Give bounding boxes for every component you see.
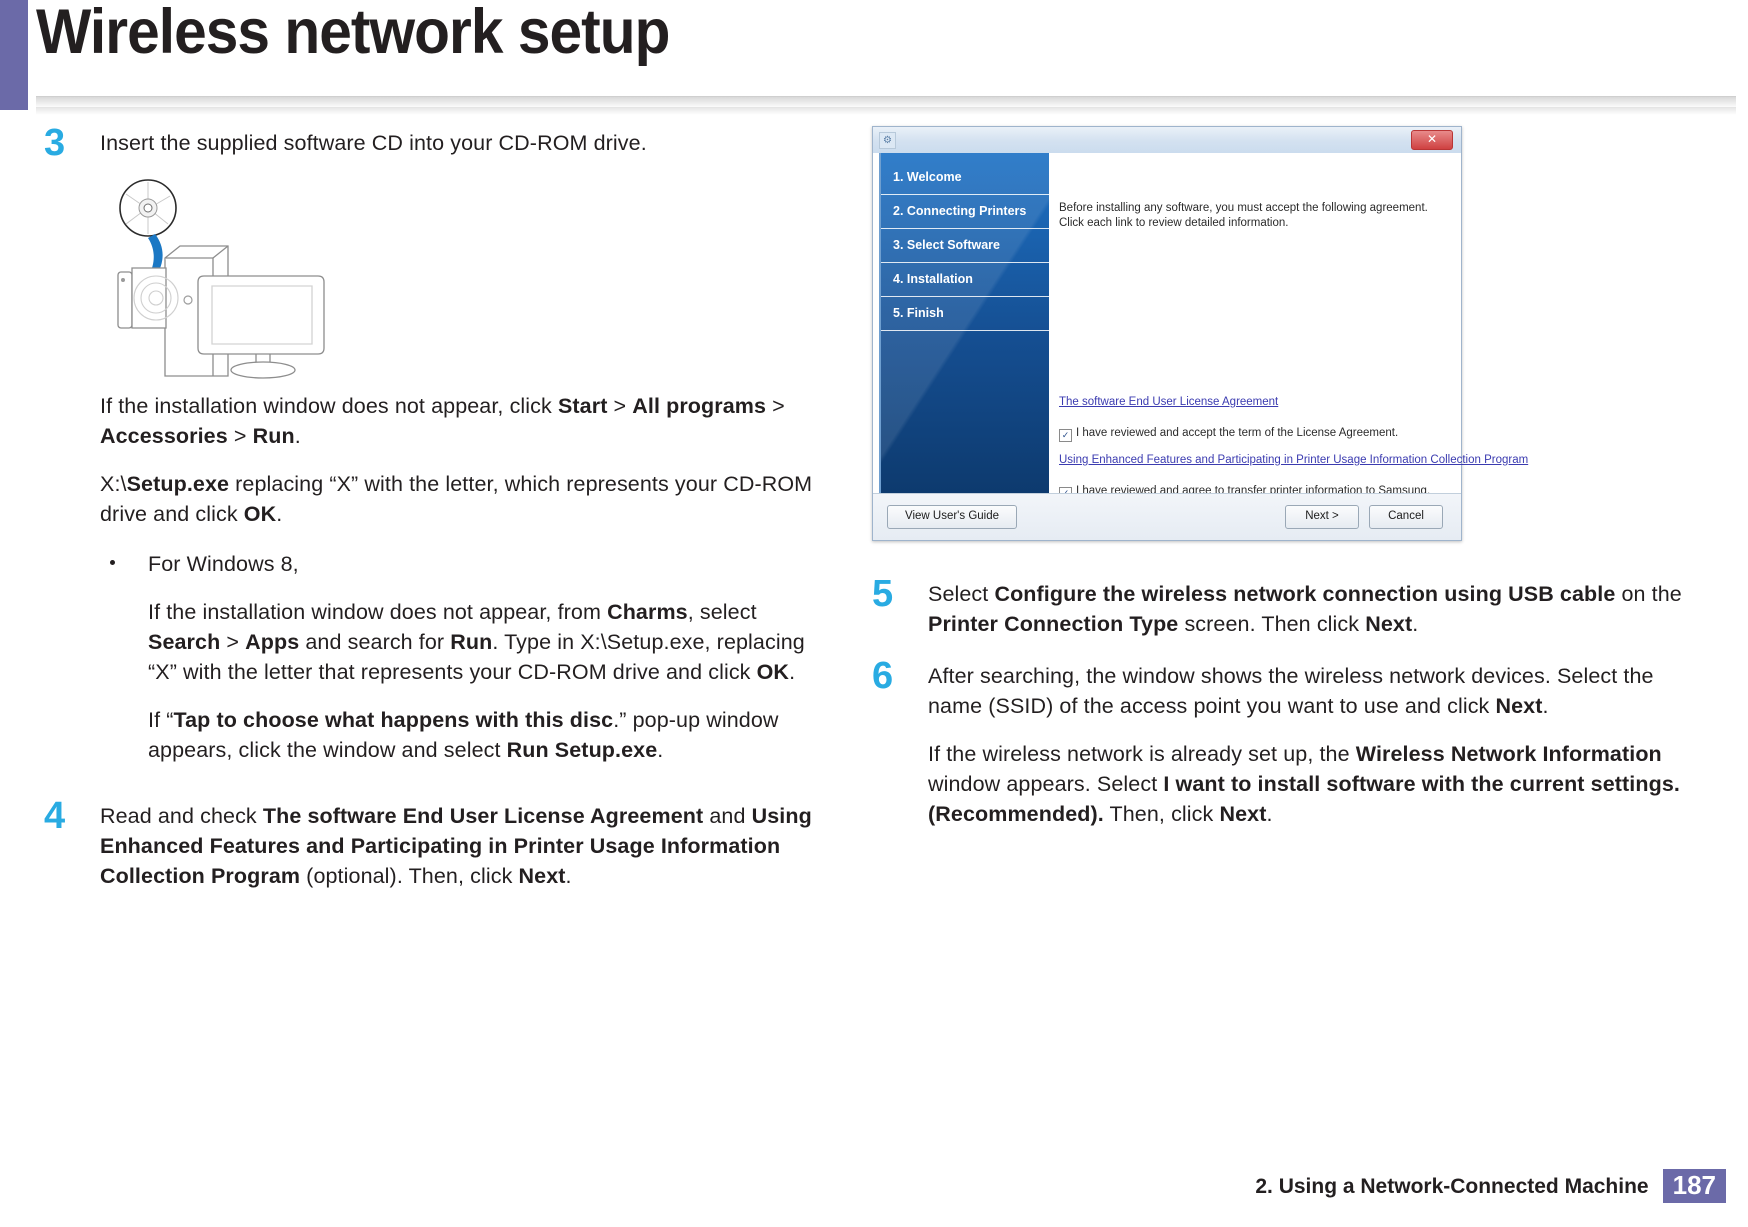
view-users-guide-button[interactable]: View User's Guide (887, 505, 1017, 529)
step-6-p2-mid2: Then, click (1104, 802, 1220, 826)
installer-content-pane: Before installing any software, you must… (1053, 153, 1457, 494)
sep: > (607, 394, 632, 418)
accept-license-label: I have reviewed and accept the term of t… (1076, 427, 1398, 439)
next-label: Next (1495, 694, 1542, 718)
sep: > (228, 424, 253, 448)
accept-license-checkbox-row[interactable]: ✓I have reviewed and accept the term of … (1059, 427, 1398, 440)
page-header: Wireless network setup (0, 0, 1748, 118)
step-5-mid1: on the (1615, 582, 1681, 606)
period: . (1542, 694, 1548, 718)
windows-8-para-1: If the installation window does not appe… (148, 597, 814, 687)
period: . (566, 864, 572, 888)
nav-item-finish[interactable]: 5. Finish (881, 297, 1049, 331)
setup-exe-label: Setup.exe (127, 472, 229, 496)
step-6: 6 After searching, the window shows the … (872, 661, 1692, 829)
period: . (1266, 802, 1272, 826)
eula-link[interactable]: The software End User License Agreement (1059, 396, 1278, 408)
step-5-number: 5 (872, 575, 893, 613)
installer-body: 1. Welcome 2. Connecting Printers 3. Sel… (873, 153, 1461, 494)
nav-item-welcome[interactable]: 1. Welcome (881, 161, 1049, 195)
tap-to-choose-label: Tap to choose what happens with this dis… (173, 708, 613, 732)
left-column: 3 Insert the supplied software CD into y… (44, 118, 814, 909)
period: . (295, 424, 301, 448)
step-3: 3 Insert the supplied software CD into y… (44, 128, 814, 765)
header-accent-bar (0, 0, 28, 110)
sep: > (220, 630, 245, 654)
step-4-mid1: and (703, 804, 751, 828)
installer-window-screenshot: ⚙ ✕ 1. Welcome 2. Connecting Printers 3.… (872, 126, 1462, 541)
installer-step-nav: 1. Welcome 2. Connecting Printers 3. Sel… (879, 153, 1049, 494)
period: . (276, 502, 282, 526)
step-6-number: 6 (872, 657, 893, 695)
footer-page-number: 187 (1663, 1169, 1726, 1203)
step-3-para-1-prefix: If the installation window does not appe… (100, 394, 558, 418)
drive-path-prefix: X:\ (100, 472, 127, 496)
cd-into-cdrom-drive-illustration (108, 176, 338, 381)
step-5-instruction: Select Configure the wireless network co… (928, 579, 1692, 639)
step-6-p2-mid1: window appears. Select (928, 772, 1163, 796)
step-4: 4 Read and check The software End User L… (44, 801, 814, 891)
configure-wireless-label: Configure the wireless network connectio… (994, 582, 1615, 606)
search-label: Search (148, 630, 220, 654)
step-5-prefix: Select (928, 582, 994, 606)
run-label: Run (253, 424, 295, 448)
step-6-para-2: If the wireless network is already set u… (928, 739, 1692, 829)
ok-label: OK (757, 660, 789, 684)
step-4-mid2: (optional). Then, click (300, 864, 518, 888)
period: . (657, 738, 663, 762)
w8-p1-prefix: If the installation window does not appe… (148, 600, 607, 624)
step-6-para-1: After searching, the window shows the wi… (928, 661, 1692, 721)
eula-label: The software End User License Agreement (263, 804, 703, 828)
nav-item-connecting-printers[interactable]: 2. Connecting Printers (881, 195, 1049, 229)
nav-item-installation[interactable]: 4. Installation (881, 263, 1049, 297)
step-3-instruction: Insert the supplied software CD into you… (100, 128, 814, 158)
w8-p1-mid1: , select (688, 600, 757, 624)
footer-inner: 2. Using a Network-Connected Machine 187 (1255, 1169, 1726, 1203)
enhanced-features-link[interactable]: Using Enhanced Features and Participatin… (1059, 454, 1528, 466)
windows-8-title: For Windows 8, (148, 549, 814, 579)
cancel-button[interactable]: Cancel (1369, 505, 1443, 529)
ok-label: OK (244, 502, 276, 526)
step-4-instruction: Read and check The software End User Lic… (100, 801, 814, 891)
all-programs-label: All programs (632, 394, 766, 418)
run-setup-exe-label: Run Setup.exe (507, 738, 658, 762)
page-title: Wireless network setup (36, 0, 669, 68)
installer-intro-text: Before installing any software, you must… (1059, 201, 1443, 231)
start-label: Start (558, 394, 607, 418)
step-4-prefix: Read and check (100, 804, 263, 828)
period: . (789, 660, 795, 684)
w8-p1-mid2: and search for (299, 630, 450, 654)
accessories-label: Accessories (100, 424, 228, 448)
next-button[interactable]: Next > (1285, 505, 1359, 529)
step-5-mid2: screen. Then click (1178, 612, 1365, 636)
step-3-para-1: If the installation window does not appe… (100, 391, 814, 451)
bullet-dot-icon (110, 560, 115, 565)
windows-8-bullet: For Windows 8, If the installation windo… (100, 549, 814, 765)
sep: > (766, 394, 785, 418)
wireless-network-information-label: Wireless Network Information (1356, 742, 1662, 766)
step-3-para-2: X:\Setup.exe replacing “X” with the lett… (100, 469, 814, 529)
windows-8-para-2: If “Tap to choose what happens with this… (148, 705, 814, 765)
app-icon: ⚙ (879, 132, 896, 149)
step-6-p2-prefix: If the wireless network is already set u… (928, 742, 1356, 766)
charms-label: Charms (607, 600, 688, 624)
close-icon[interactable]: ✕ (1411, 130, 1453, 150)
page-footer: 2. Using a Network-Connected Machine 187 (0, 1163, 1748, 1203)
w8-p2-prefix: If “ (148, 708, 173, 732)
installer-title-bar: ⚙ ✕ (873, 127, 1461, 154)
next-label: Next (519, 864, 566, 888)
installer-footer: View User's Guide Next > Cancel (873, 493, 1461, 540)
header-divider (36, 96, 1736, 108)
run-label: Run (450, 630, 492, 654)
step-4-number: 4 (44, 797, 65, 835)
right-column: ⚙ ✕ 1. Welcome 2. Connecting Printers 3.… (872, 118, 1692, 847)
footer-chapter-label: 2. Using a Network-Connected Machine (1255, 1175, 1662, 1203)
printer-connection-type-label: Printer Connection Type (928, 612, 1178, 636)
next-label: Next (1365, 612, 1412, 636)
step-5: 5 Select Configure the wireless network … (872, 579, 1692, 639)
step-3-number: 3 (44, 124, 65, 162)
nav-item-select-software[interactable]: 3. Select Software (881, 229, 1049, 263)
apps-label: Apps (245, 630, 299, 654)
period: . (1412, 612, 1418, 636)
next-label: Next (1219, 802, 1266, 826)
checkbox-checked-icon[interactable]: ✓ (1059, 429, 1072, 442)
